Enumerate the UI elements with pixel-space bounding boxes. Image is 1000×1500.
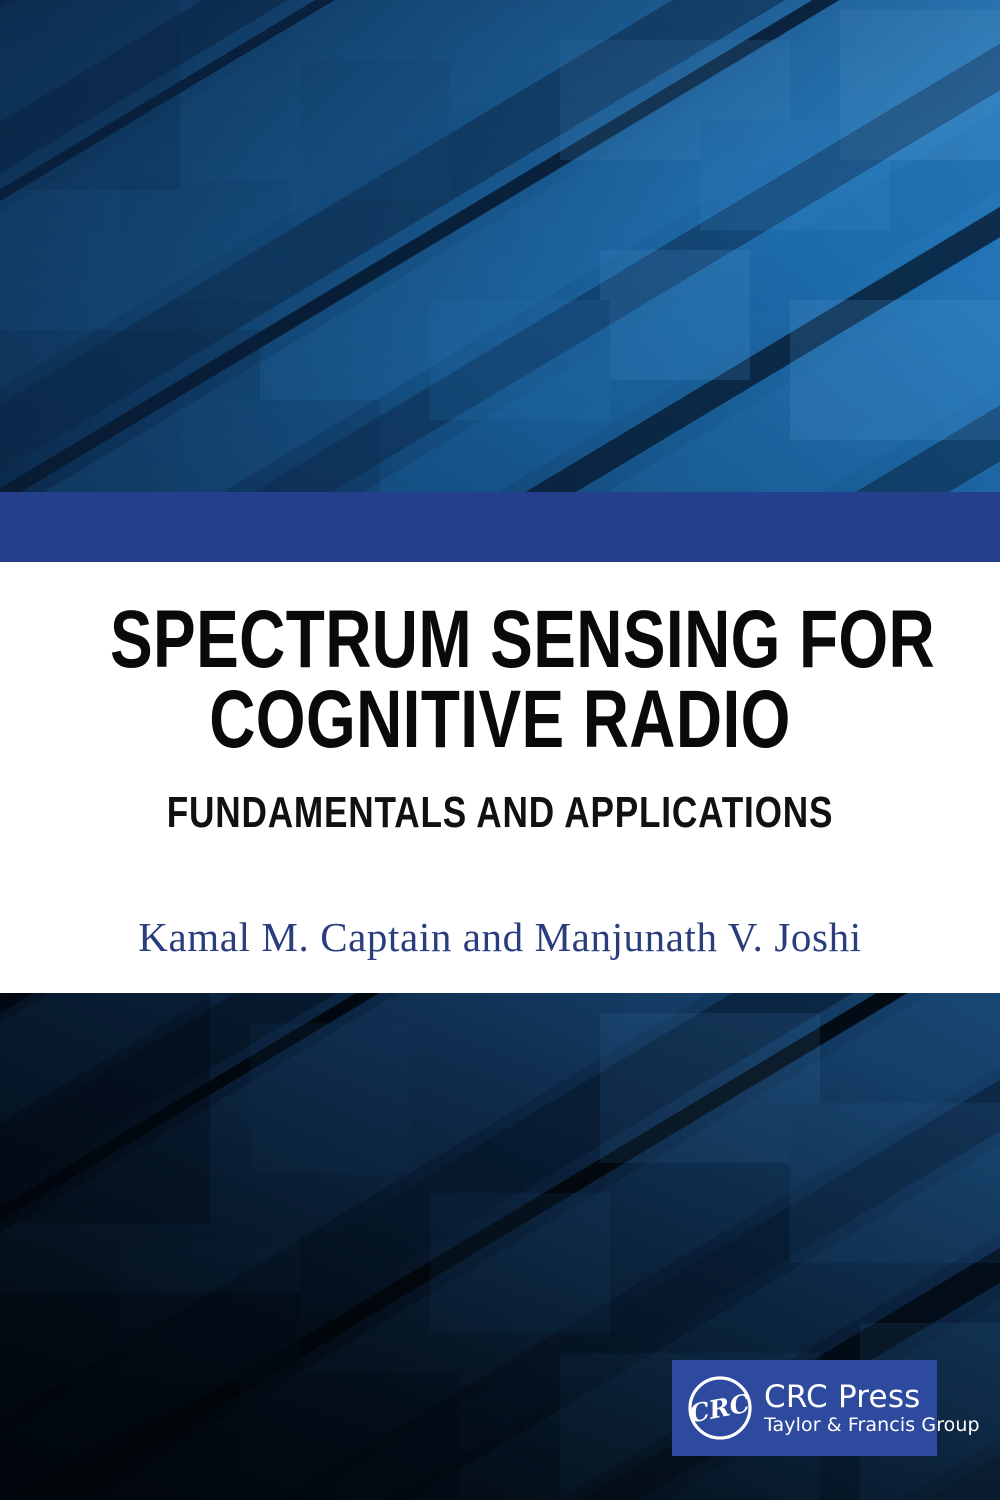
page-title: SPECTRUM SENSING FOR COGNITIVE RADIO bbox=[0, 600, 1000, 760]
crc-press-logo: CRC CRC Press Taylor & Francis Group bbox=[672, 1360, 937, 1456]
top-artwork-panel bbox=[0, 0, 1000, 492]
crc-roundel-icon: CRC bbox=[686, 1374, 754, 1442]
subtitle: FUNDAMENTALS AND APPLICATIONS bbox=[100, 790, 900, 836]
crc-circle-icon: CRC bbox=[686, 1374, 754, 1442]
title-line-1: SPECTRUM SENSING FOR bbox=[110, 600, 890, 680]
title-panel: SPECTRUM SENSING FOR COGNITIVE RADIO FUN… bbox=[0, 562, 1000, 993]
blue-divider-band bbox=[0, 492, 1000, 562]
crc-imprint-name: Taylor & Francis Group bbox=[764, 1414, 980, 1436]
title-line-2: COGNITIVE RADIO bbox=[110, 680, 890, 760]
top-artwork-graphic bbox=[0, 0, 1000, 492]
author-line: Kamal M. Captain and Manjunath V. Joshi bbox=[0, 914, 1000, 960]
book-cover: SPECTRUM SENSING FOR COGNITIVE RADIO FUN… bbox=[0, 0, 1000, 1500]
svg-text:CRC: CRC bbox=[687, 1389, 752, 1429]
crc-press-name: CRC Press bbox=[764, 1381, 980, 1414]
crc-wordmark: CRC Press Taylor & Francis Group bbox=[764, 1381, 980, 1436]
